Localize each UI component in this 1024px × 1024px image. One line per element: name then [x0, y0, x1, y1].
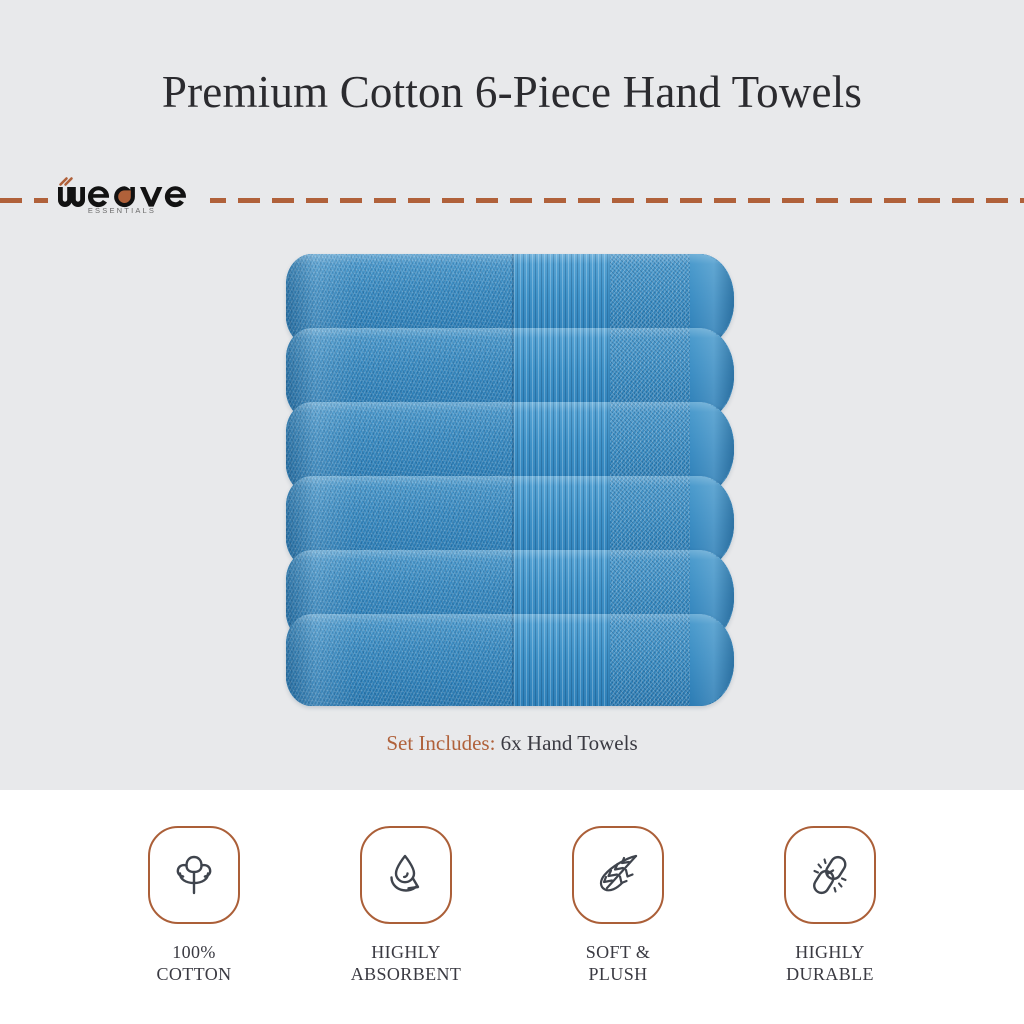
feature-label: HIGHLY DURABLE — [786, 942, 874, 986]
product-infographic: Premium Cotton 6-Piece Hand Towels — [0, 0, 1024, 1024]
brand-logo: ESSENTIALS — [48, 172, 210, 228]
feature-absorbent: HIGHLY ABSORBENT — [300, 826, 512, 986]
feature-cotton: 100% COTTON — [88, 826, 300, 986]
set-includes-value: 6x Hand Towels — [501, 731, 638, 755]
set-includes-label: Set Includes: — [386, 731, 495, 755]
feature-durable: HIGHLY DURABLE — [724, 826, 936, 986]
brand-tagline: ESSENTIALS — [48, 206, 196, 215]
feature-band: 100% COTTON HIGHLY ABSORBENT — [0, 790, 1024, 1024]
feature-label: SOFT & PLUSH — [586, 942, 651, 986]
feather-icon — [572, 826, 664, 924]
cotton-boll-icon — [148, 826, 240, 924]
feature-label: 100% COTTON — [156, 942, 231, 986]
brand-divider-row: ESSENTIALS — [0, 178, 1024, 226]
towel-fold — [286, 614, 734, 706]
weave-wordmark-icon — [54, 174, 196, 210]
product-image-towel-stack — [286, 254, 734, 706]
feature-label: HIGHLY ABSORBENT — [351, 942, 462, 986]
feature-soft-plush: SOFT & PLUSH — [512, 826, 724, 986]
page-title: Premium Cotton 6-Piece Hand Towels — [0, 66, 1024, 118]
chain-link-icon — [784, 826, 876, 924]
set-includes-caption: Set Includes: 6x Hand Towels — [0, 731, 1024, 756]
water-drop-absorb-icon — [360, 826, 452, 924]
